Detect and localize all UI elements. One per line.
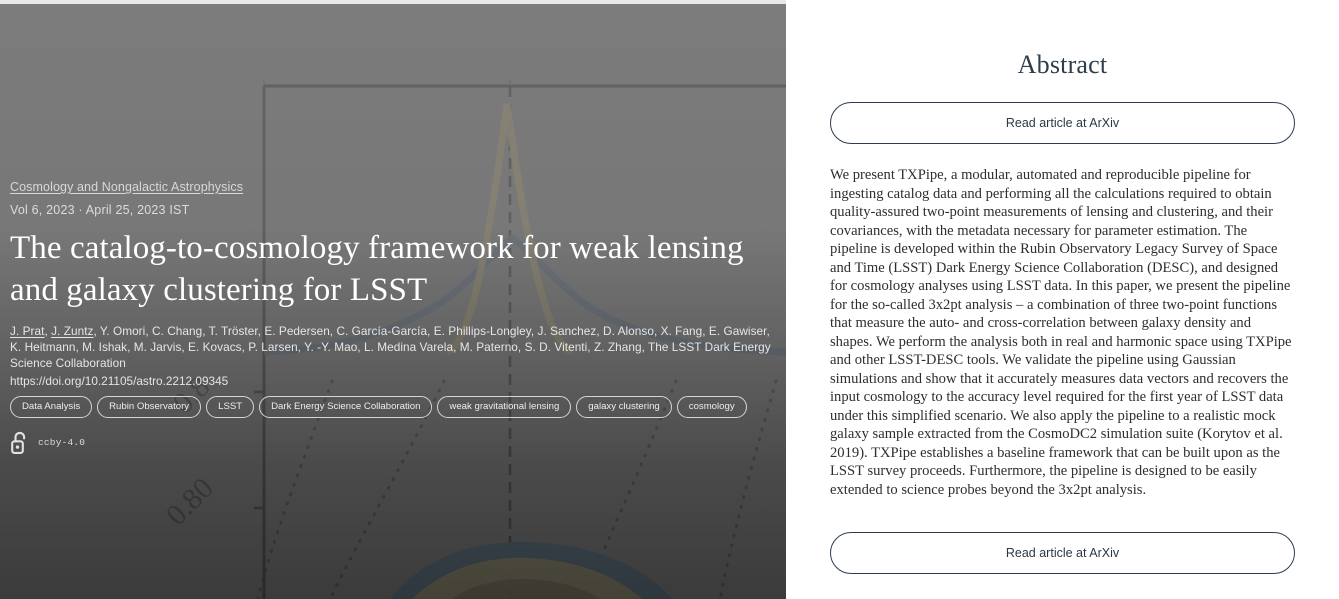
abstract-panel: Abstract Read article at ArXiv We presen… [786, 0, 1339, 599]
subject-tag-row: Data Analysis Rubin Observatory LSST Dar… [10, 396, 776, 418]
read-article-at-arxiv-button-bottom[interactable]: Read article at ArXiv [830, 532, 1295, 574]
license-row: ccby-4.0 [10, 430, 776, 455]
abstract-body-text: We present TXPipe, a modular, automated … [830, 166, 1295, 499]
journal-section-link[interactable]: Cosmology and Nongalactic Astrophysics [10, 180, 243, 195]
article-page: 0.8 0.80 [0, 0, 1339, 599]
tag-galaxy-clustering[interactable]: galaxy clustering [576, 396, 671, 418]
tag-lsst[interactable]: LSST [206, 396, 254, 418]
tag-weak-gravitational-lensing[interactable]: weak gravitational lensing [437, 396, 571, 418]
abstract-heading: Abstract [830, 50, 1295, 80]
article-hero-panel: 0.8 0.80 [0, 0, 786, 599]
tag-cosmology[interactable]: cosmology [677, 396, 747, 418]
tag-desc[interactable]: Dark Energy Science Collaboration [259, 396, 432, 418]
article-title: The catalog-to-cosmology framework for w… [10, 227, 770, 311]
tag-data-analysis[interactable]: Data Analysis [10, 396, 92, 418]
tag-rubin-observatory[interactable]: Rubin Observatory [97, 396, 201, 418]
hero-content: Cosmology and Nongalactic Astrophysics V… [0, 0, 786, 599]
doi-link[interactable]: https://doi.org/10.21105/astro.2212.0934… [10, 373, 776, 389]
license-label: ccby-4.0 [38, 437, 85, 448]
author-list: J. Prat, J. Zuntz, Y. Omori, C. Chang, T… [10, 323, 775, 371]
open-access-padlock-icon [10, 430, 29, 455]
author-list-rest: , Y. Omori, C. Chang, T. Tröster, E. Ped… [10, 324, 771, 370]
read-article-at-arxiv-button-top[interactable]: Read article at ArXiv [830, 102, 1295, 144]
issue-date-line: Vol 6, 2023 · April 25, 2023 IST [10, 202, 776, 218]
hero-top-strip [0, 0, 786, 4]
author-link-zuntz[interactable]: J. Zuntz [51, 324, 93, 338]
read-article-bottom-wrapper: Read article at ArXiv [830, 532, 1295, 574]
author-link-prat[interactable]: J. Prat [10, 324, 44, 338]
